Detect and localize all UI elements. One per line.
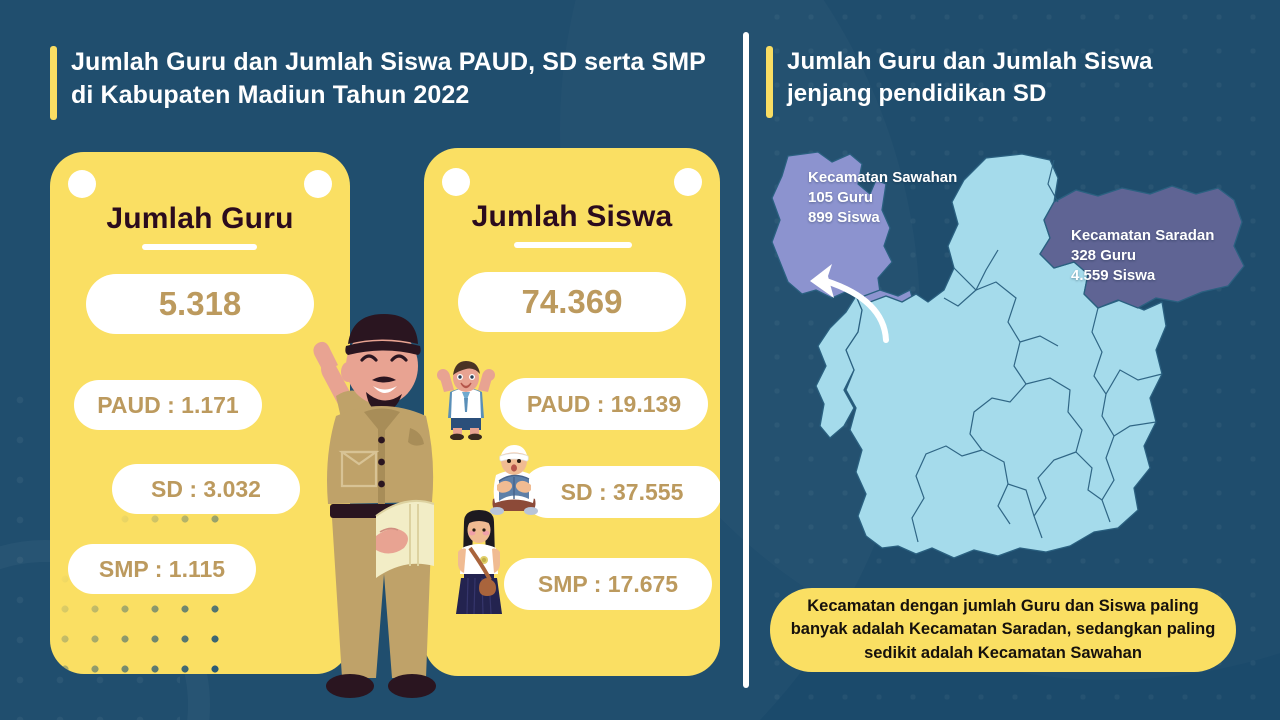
map-kabupaten-madiun: Kecamatan Sawahan 105 Guru 899 Siswa Kec… <box>758 150 1268 570</box>
map-caption-text: Kecamatan dengan jumlah Guru dan Siswa p… <box>788 595 1218 665</box>
card-punch-hole-left <box>442 168 470 196</box>
total-siswa-pill: 74.369 <box>458 272 686 332</box>
map-label-sawahan: Kecamatan Sawahan 105 Guru 899 Siswa <box>808 168 957 228</box>
card-heading-underline <box>514 242 632 248</box>
right-panel-title-text: Jumlah Guru dan Jumlah Siswa jenjang pen… <box>787 46 1236 109</box>
map-label-saradan-district: Kecamatan Saradan <box>1071 226 1214 246</box>
guru-smp-pill: SMP : 1.115 <box>68 544 256 594</box>
card-punch-hole-left <box>68 170 96 198</box>
map-label-sawahan-students: 899 Siswa <box>808 208 957 228</box>
map-caption-box: Kecamatan dengan jumlah Guru dan Siswa p… <box>770 588 1236 672</box>
left-panel-title: Jumlah Guru dan Jumlah Siswa PAUD, SD se… <box>50 46 710 120</box>
infographic-canvas: Jumlah Guru dan Jumlah Siswa PAUD, SD se… <box>0 0 1280 720</box>
title-accent-bar <box>50 46 57 120</box>
map-label-saradan: Kecamatan Saradan 328 Guru 4.559 Siswa <box>1071 226 1214 286</box>
card-heading: Jumlah Guru <box>50 202 350 236</box>
map-label-saradan-students: 4.559 Siswa <box>1071 266 1214 286</box>
map-label-sawahan-district: Kecamatan Sawahan <box>808 168 957 188</box>
map-label-sawahan-teachers: 105 Guru <box>808 188 957 208</box>
student-girl-illustration <box>448 508 510 618</box>
right-panel-title: Jumlah Guru dan Jumlah Siswa jenjang pen… <box>766 46 1236 118</box>
title-accent-bar <box>766 46 773 118</box>
guru-paud-pill: PAUD : 1.171 <box>74 380 262 430</box>
siswa-paud-pill: PAUD : 19.139 <box>500 378 708 430</box>
card-heading-underline <box>142 244 257 250</box>
siswa-smp-pill: SMP : 17.675 <box>504 558 712 610</box>
siswa-sd-pill: SD : 37.555 <box>522 466 720 518</box>
card-punch-hole-right <box>304 170 332 198</box>
map-label-saradan-teachers: 328 Guru <box>1071 246 1214 266</box>
card-punch-hole-right <box>674 168 702 196</box>
student-boy-cheering-illustration <box>432 358 500 440</box>
card-heading: Jumlah Siswa <box>424 200 720 234</box>
panel-divider <box>743 32 749 688</box>
left-panel-title-text: Jumlah Guru dan Jumlah Siswa PAUD, SD se… <box>71 46 710 112</box>
